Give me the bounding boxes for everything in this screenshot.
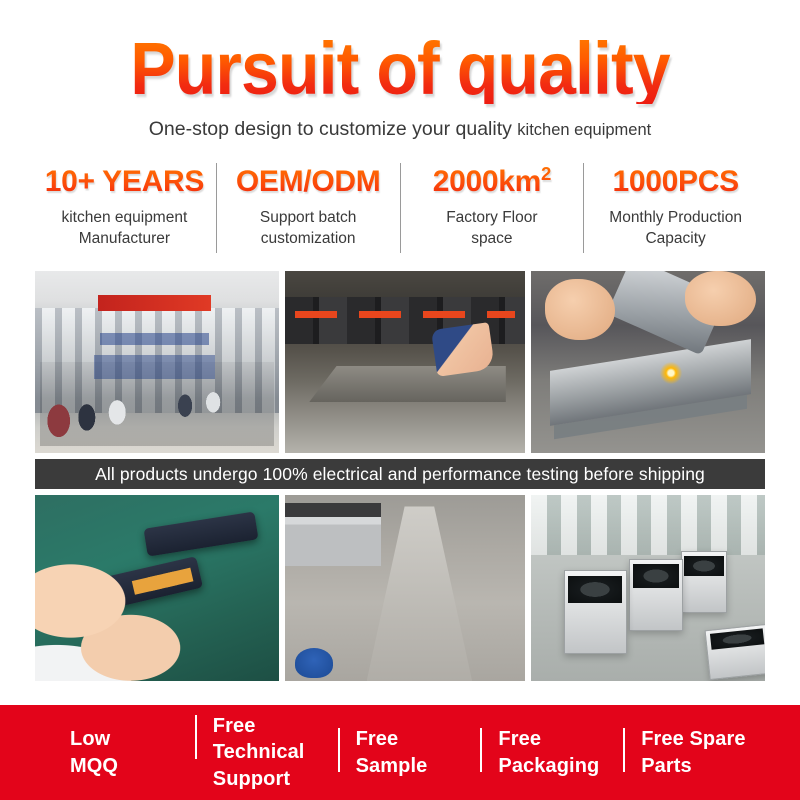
footer-item-free-technical-support[interactable]: Free Technical Support: [195, 713, 338, 792]
stat-card-years: 10+ YEARS kitchen equipment Manufacturer: [33, 163, 216, 253]
footer-item-free-sample[interactable]: Free Sample: [338, 726, 481, 779]
stat-caption-line1: Monthly Production: [590, 208, 761, 229]
stat-value: OEM/ODM: [223, 165, 394, 200]
stat-value: 2000km2: [407, 165, 578, 200]
stat-value: 10+ YEARS: [39, 165, 210, 200]
hero-subtitle: One-stop design to customize your qualit…: [0, 118, 800, 141]
photo-welding: [531, 271, 765, 453]
stat-caption-line2: space: [407, 229, 578, 250]
stat-caption-line2: customization: [223, 229, 394, 250]
photo-control-panel-inspection: [35, 495, 279, 681]
footer-item-free-spare-parts[interactable]: Free Spare Parts: [623, 726, 766, 779]
hero-subtitle-main: One-stop design to customize your qualit…: [149, 118, 518, 140]
stat-caption: Factory Floor space: [407, 208, 578, 250]
stat-card-capacity: 1000PCS Monthly Production Capacity: [583, 163, 767, 253]
photo-press-brake: [285, 271, 525, 453]
hero-section: Pursuit of quality One-stop design to cu…: [0, 0, 800, 141]
photo-finished-cooktops: [531, 495, 765, 681]
hero-subtitle-small: kitchen equipment: [517, 121, 651, 139]
page-title: Pursuit of quality: [32, 34, 768, 104]
stat-card-factory-area: 2000km2 Factory Floor space: [400, 163, 584, 253]
photo-gallery: All products undergo 100% electrical and…: [35, 271, 765, 681]
stat-value-main: 2000km: [433, 165, 541, 198]
footer-item-line2: Packaging: [498, 753, 623, 779]
photo-coil-assembly-line: [285, 495, 525, 681]
footer-item-line1: Free Spare: [641, 726, 766, 752]
stat-caption: Monthly Production Capacity: [590, 208, 761, 250]
footer-item-free-packaging[interactable]: Free Packaging: [480, 726, 623, 779]
stats-row: 10+ YEARS kitchen equipment Manufacturer…: [33, 163, 767, 253]
benefits-footer: Low MQQ Free Technical Support Free Samp…: [0, 705, 800, 800]
footer-item-line1: Free: [356, 726, 481, 752]
stat-caption-line1: Factory Floor: [407, 208, 578, 229]
footer-item-line1: Low: [70, 726, 195, 752]
footer-item-line2: MQQ: [70, 753, 195, 779]
photo-row-top: [35, 271, 765, 453]
footer-item-line2: Sample: [356, 753, 481, 779]
footer-item-line1: Free: [498, 726, 623, 752]
photo-row-bottom: [35, 495, 765, 681]
stat-caption-line2: Manufacturer: [39, 229, 210, 250]
stat-caption-line2: Capacity: [590, 229, 761, 250]
stat-caption-line1: Support batch: [223, 208, 394, 229]
footer-item-low-mqq[interactable]: Low MQQ: [52, 726, 195, 779]
stat-value: 1000PCS: [590, 165, 761, 200]
stat-card-oem-odm: OEM/ODM Support batch customization: [216, 163, 400, 253]
testing-overlay-banner: All products undergo 100% electrical and…: [35, 459, 765, 489]
stat-caption: kitchen equipment Manufacturer: [39, 208, 210, 250]
stat-caption: Support batch customization: [223, 208, 394, 250]
footer-item-line1: Free Technical: [213, 713, 338, 766]
photo-assembly-line: [35, 271, 279, 453]
stat-value-superscript: 2: [541, 163, 551, 184]
footer-item-line2: Support: [213, 766, 338, 792]
stat-caption-line1: kitchen equipment: [39, 208, 210, 229]
footer-item-line2: Parts: [641, 753, 766, 779]
